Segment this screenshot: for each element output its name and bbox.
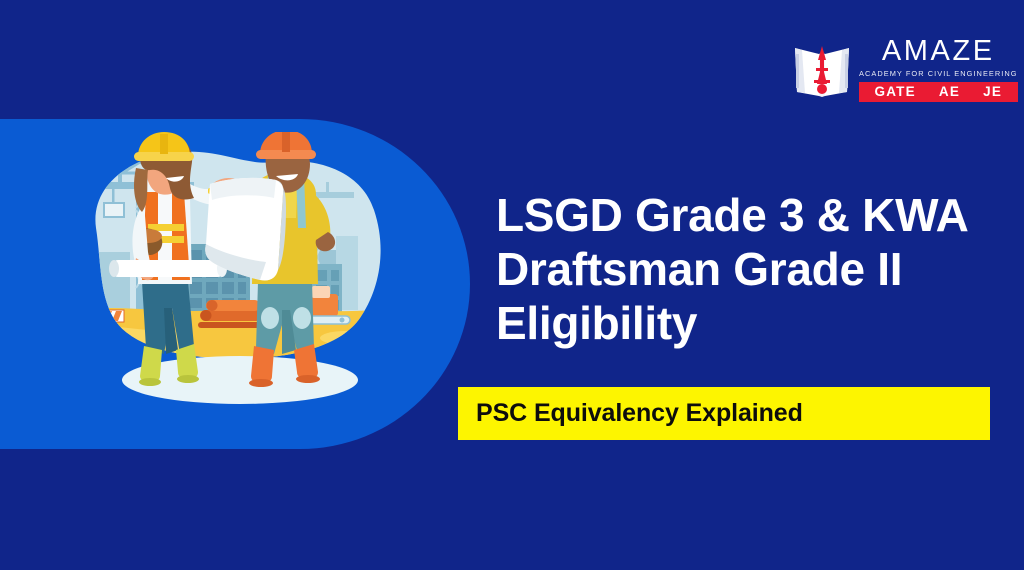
logo-tagline: ACADEMY FOR CIVIL ENGINEERING bbox=[859, 70, 1018, 77]
open-book-with-tower-icon bbox=[793, 38, 851, 100]
rolled-blueprint bbox=[109, 260, 227, 277]
exam-badge-ae: AE bbox=[939, 85, 960, 99]
logo-exam-bar: GATE AE JE bbox=[859, 82, 1018, 103]
blueprint-sheet bbox=[205, 178, 286, 281]
page-title: LSGD Grade 3 & KWA Draftsman Grade II El… bbox=[496, 189, 996, 350]
headline-line-1: LSGD Grade 3 & KWA bbox=[496, 189, 996, 243]
headline-line-3: Eligibility bbox=[496, 297, 996, 351]
pipe-stack bbox=[198, 300, 266, 328]
subtitle-banner: PSC Equivalency Explained bbox=[458, 387, 990, 440]
exam-badge-je: JE bbox=[983, 85, 1002, 99]
subtitle-text: PSC Equivalency Explained bbox=[458, 401, 803, 426]
construction-workers-illustration bbox=[60, 132, 420, 422]
headline-line-2: Draftsman Grade II bbox=[496, 243, 996, 297]
exam-badge-gate: GATE bbox=[875, 85, 916, 99]
logo-text-block: AMAZE ACADEMY FOR CIVIL ENGINEERING GATE… bbox=[859, 36, 1018, 103]
promotional-banner: AMAZE ACADEMY FOR CIVIL ENGINEERING GATE… bbox=[0, 0, 1024, 570]
logo-wordmark: AMAZE bbox=[859, 37, 1018, 66]
barricade bbox=[82, 310, 124, 344]
amaze-logo[interactable]: AMAZE ACADEMY FOR CIVIL ENGINEERING GATE… bbox=[793, 33, 993, 105]
